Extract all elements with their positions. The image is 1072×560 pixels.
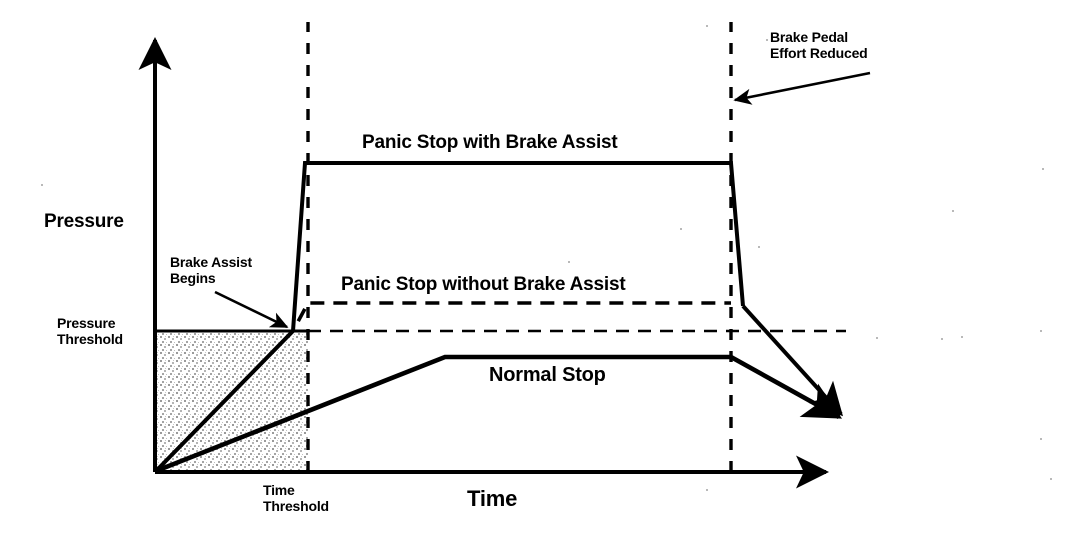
pressure-threshold-label: Pressure Threshold xyxy=(57,316,123,347)
brake-assist-pressure-time-chart: Pressure Time Pressure Threshold Time Th… xyxy=(0,0,1072,560)
x-axis-label: Time xyxy=(467,487,517,512)
series-panic-with-brake-assist-release xyxy=(743,306,841,414)
series-label-with-brake-assist: Panic Stop with Brake Assist xyxy=(362,132,618,153)
effort-reduced-arrow xyxy=(735,73,870,100)
series-label-without-brake-assist: Panic Stop without Brake Assist xyxy=(341,274,626,295)
annotation-brake-pedal-effort-reduced: Brake Pedal Effort Reduced xyxy=(770,30,868,61)
brake-assist-begins-arrow xyxy=(215,292,287,327)
series-normal-stop-release xyxy=(731,357,839,417)
series-label-normal-stop: Normal Stop xyxy=(489,364,606,386)
threshold-shaded-region xyxy=(157,331,308,472)
time-threshold-label: Time Threshold xyxy=(263,483,329,514)
y-axis-label: Pressure xyxy=(44,211,124,232)
annotation-brake-assist-begins: Brake Assist Begins xyxy=(170,255,252,286)
